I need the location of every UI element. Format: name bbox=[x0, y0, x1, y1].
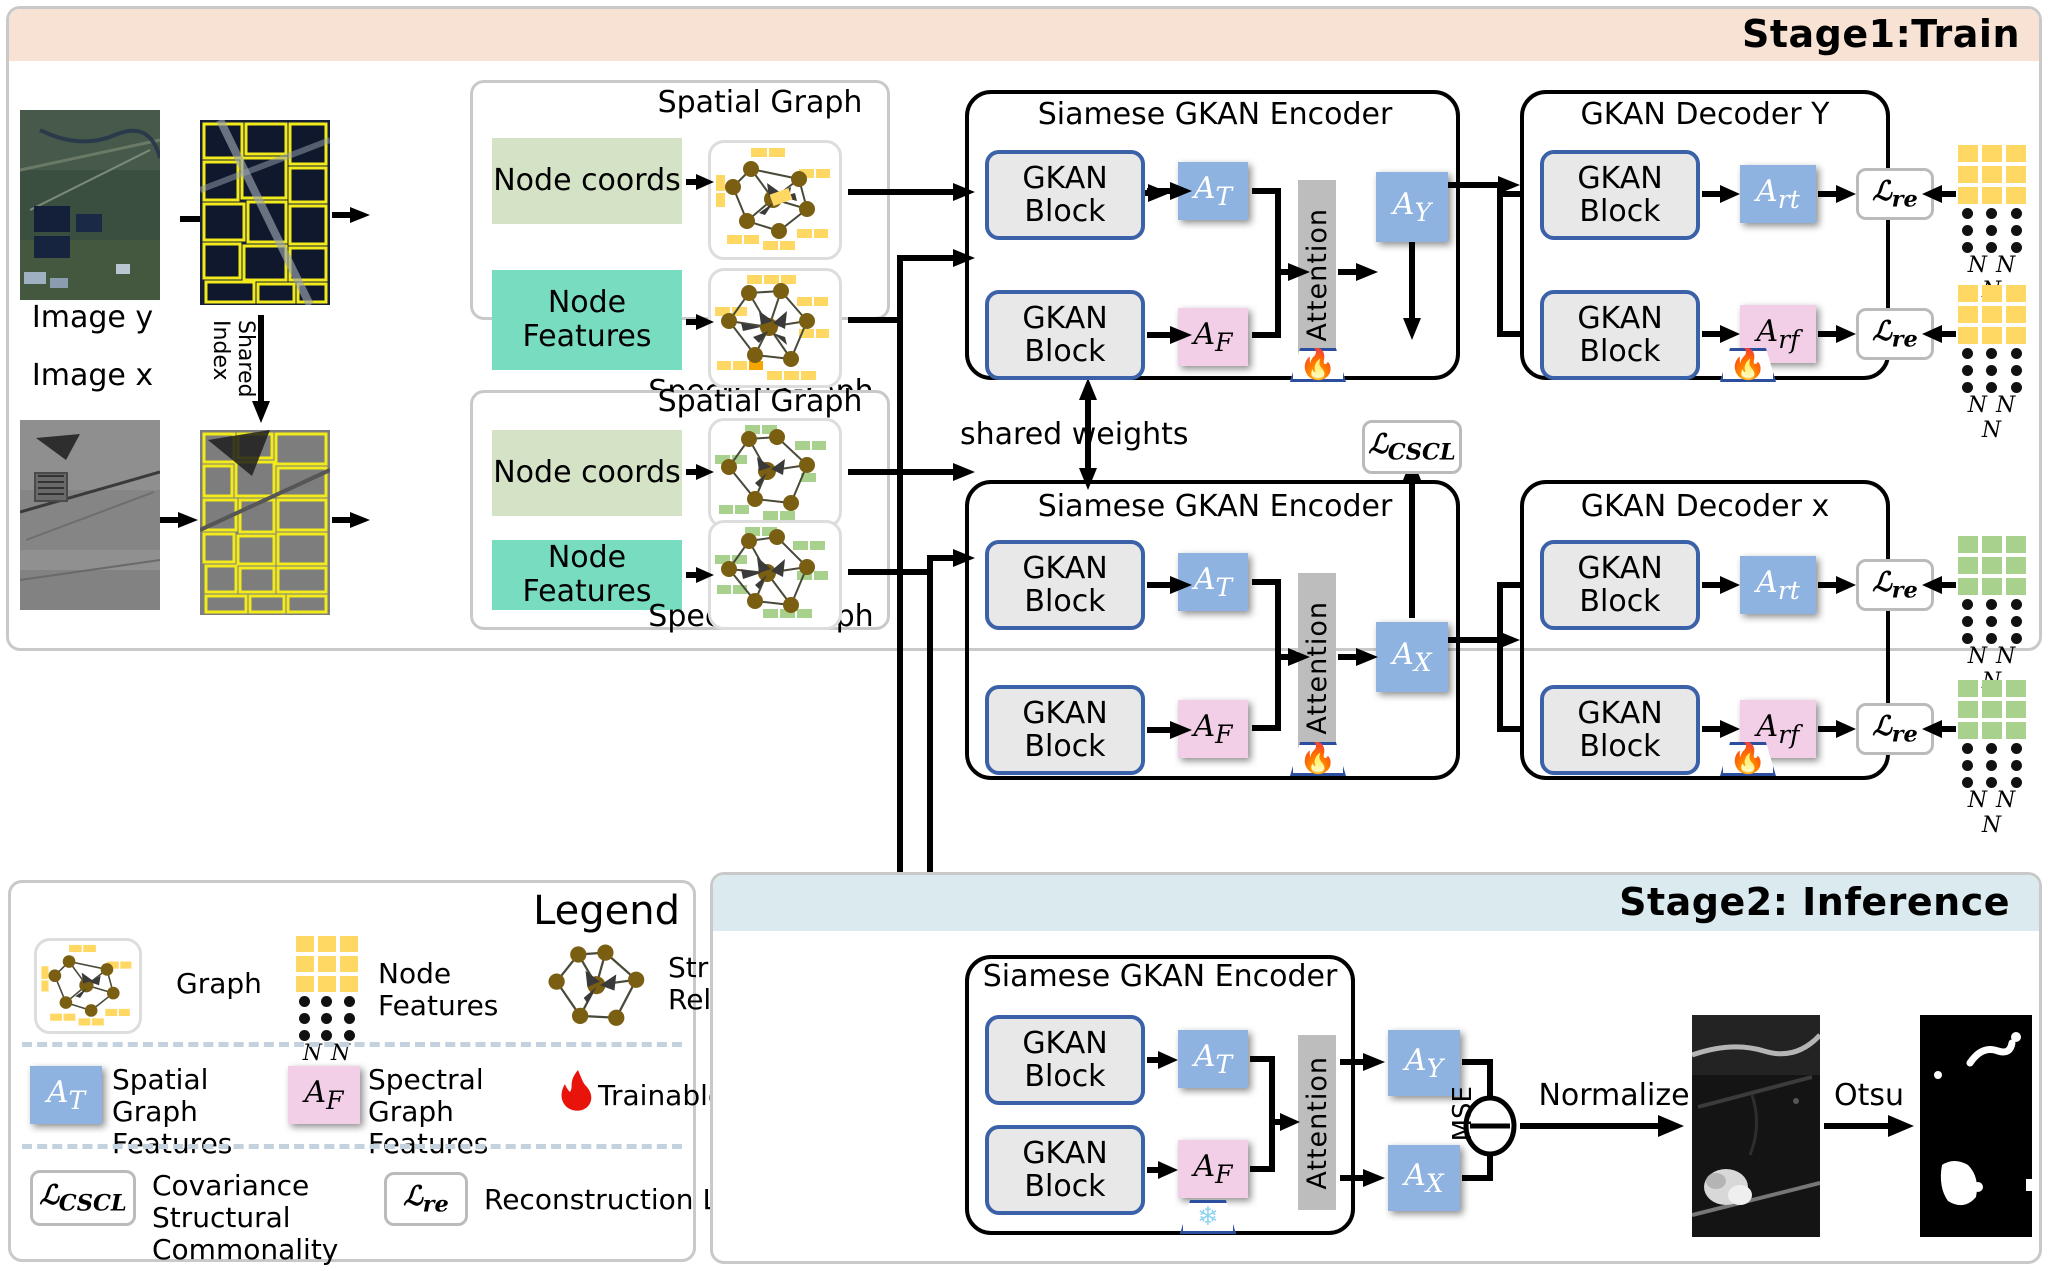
decoder-x-loss-1: ℒre bbox=[1856, 559, 1934, 611]
decoder-x-gkan-block-2-label: GKAN Block bbox=[1544, 697, 1696, 763]
flame-icon: 🔥 bbox=[1729, 350, 1766, 380]
legend-separator-1 bbox=[22, 1042, 682, 1047]
encoder-y-internal-wires bbox=[960, 80, 1480, 390]
node-coords-box-x: Node coords bbox=[492, 430, 682, 516]
decoder-y-art-tag: Art bbox=[1740, 165, 1816, 223]
otsu-binary-map-image bbox=[1920, 1015, 2032, 1237]
decoder-x-loss-2: ℒre bbox=[1856, 703, 1934, 755]
node-feature-grid-cells bbox=[1958, 680, 2026, 739]
mse-label-text: MSE bbox=[1448, 1086, 1478, 1141]
legend-title: Legend bbox=[440, 888, 680, 934]
spatial-graph-label-y: Spatial Graph bbox=[640, 86, 880, 120]
inference-af-tag: AF bbox=[1178, 1140, 1248, 1198]
flame-icon: 🔥 bbox=[1299, 744, 1336, 774]
image-x-caption: Image x bbox=[10, 358, 175, 393]
inference-attention-label: Attention bbox=[1302, 1056, 1333, 1190]
gkan-decoder-y-title: GKAN Decoder Y bbox=[1540, 98, 1870, 132]
inference-at-tag: AT bbox=[1178, 1030, 1248, 1088]
decoder-y-loss-2-label: ℒre bbox=[1872, 316, 1918, 352]
node-feature-grid-y-1: N N N bbox=[1958, 145, 2026, 303]
inference-gkan-block-2-label: GKAN Block bbox=[989, 1137, 1141, 1203]
decoder-y-loss-1-label: ℒre bbox=[1872, 176, 1918, 212]
gkan-decoder-x-title: GKAN Decoder x bbox=[1540, 490, 1870, 524]
inference-gkan-block-1: GKAN Block bbox=[985, 1015, 1145, 1105]
shared-weights-label: shared weights bbox=[960, 418, 1230, 452]
node-feature-grid-dots bbox=[1958, 743, 2026, 788]
snowflake-icon: ❄ bbox=[1197, 1204, 1219, 1230]
node-coords-y-arrow bbox=[686, 172, 716, 192]
legend-structural-icon bbox=[540, 940, 660, 1034]
node-feature-grid-dots bbox=[1958, 599, 2026, 644]
legend-at-tag: AT bbox=[30, 1066, 102, 1124]
normalize-label: Normalize bbox=[1524, 1078, 1704, 1113]
decoder-y-gkan-block-1-label: GKAN Block bbox=[1544, 162, 1696, 228]
spectral-graph-card-y bbox=[708, 268, 842, 388]
decoder-y-loss-1: ℒre bbox=[1856, 168, 1934, 220]
inference-encoder-title: Siamese GKAN Encoder bbox=[970, 960, 1350, 994]
node-features-box-y: Node Features bbox=[492, 270, 682, 370]
diagram-root: Stage1:Train Image y bbox=[0, 0, 2048, 1271]
encoder-x-internal-wires bbox=[960, 470, 1480, 790]
inference-af-label: AF bbox=[1193, 1149, 1232, 1189]
node-coords-box-y: Node coords bbox=[492, 138, 682, 224]
legend-cscl-tag: ℒCSCL bbox=[30, 1170, 136, 1226]
difference-map-image bbox=[1692, 1015, 1820, 1237]
node-feature-grid-dots bbox=[1958, 208, 2026, 253]
superpixel-x-to-panel-arrow bbox=[332, 510, 372, 530]
node-feature-grid-x-2-caption: N N N bbox=[1958, 788, 2026, 838]
node-coords-x-arrow bbox=[686, 462, 716, 482]
decoder-y-gkan-block-2-label: GKAN Block bbox=[1544, 302, 1696, 368]
legend-graph-icon bbox=[34, 938, 142, 1034]
node-feature-grid-cells bbox=[1958, 285, 2026, 344]
node-features-x-arrow bbox=[686, 565, 716, 585]
node-feature-grid-dots bbox=[296, 996, 358, 1041]
cscl-loss-label: ℒCSCL bbox=[1368, 429, 1455, 465]
spatial-graph-card-x bbox=[708, 418, 842, 528]
node-feature-grid-cells bbox=[1958, 536, 2026, 595]
image-y-thumbnail bbox=[20, 110, 160, 300]
inference-at-label: AT bbox=[1194, 1039, 1232, 1079]
decoder-x-loss-2-label: ℒre bbox=[1872, 711, 1918, 747]
inference-gkan-block-1-label: GKAN Block bbox=[989, 1027, 1141, 1093]
node-feature-grid-y-2: N N N bbox=[1958, 285, 2026, 443]
node-feature-grid-dots bbox=[1958, 348, 2026, 393]
legend-cscl-label: ℒCSCL bbox=[39, 1180, 126, 1216]
spectral-graph-card-x bbox=[708, 520, 842, 630]
superpixel-y-to-panel-arrow bbox=[332, 205, 372, 225]
legend-graph-label: Graph bbox=[176, 968, 316, 1000]
decoder-x-art-label: Art bbox=[1756, 565, 1800, 605]
image-y-caption: Image y bbox=[10, 300, 175, 335]
decoder-y-art-label: Art bbox=[1756, 174, 1800, 214]
inference-gkan-block-2: GKAN Block bbox=[985, 1125, 1145, 1215]
node-features-y-arrow bbox=[686, 312, 716, 332]
decoder-y-loss-2: ℒre bbox=[1856, 308, 1934, 360]
decoder-x-gkan-block-1: GKAN Block bbox=[1540, 540, 1700, 630]
inference-ax-label: AX bbox=[1404, 1158, 1443, 1198]
legend-node-feature-label: Node Features bbox=[378, 958, 528, 1022]
stage1-title: Stage1:Train bbox=[1700, 12, 2020, 56]
decoder-x-art-tag: Art bbox=[1740, 556, 1816, 614]
legend-af-label: AF bbox=[304, 1075, 343, 1115]
stage2-title: Stage2: Inference bbox=[1540, 880, 2010, 924]
node-feature-grid-cells bbox=[1958, 145, 2026, 204]
legend-re-label: ℒre bbox=[403, 1181, 449, 1217]
decoder-x-gkan-block-2: GKAN Block bbox=[1540, 685, 1700, 775]
spatial-graph-card-y bbox=[708, 140, 842, 260]
image-x-to-superpixel-arrow bbox=[160, 510, 200, 530]
superpixel-x-thumbnail bbox=[200, 430, 330, 615]
legend-cscl-desc: Covariance Structural Commonality Loss bbox=[152, 1170, 372, 1271]
inference-ay-label: AY bbox=[1405, 1043, 1443, 1083]
node-feature-grid-x-1: N N N bbox=[1958, 536, 2026, 694]
legend-af-tag: AF bbox=[288, 1066, 360, 1124]
flame-icon: 🔥 bbox=[1299, 350, 1336, 380]
legend-separator-2 bbox=[22, 1144, 682, 1149]
cscl-loss-box: ℒCSCL bbox=[1362, 420, 1462, 474]
node-feature-grid-y-2-caption: N N N bbox=[1958, 393, 2026, 443]
image-x-thumbnail bbox=[20, 420, 160, 610]
node-feature-grid-x-2: N N N bbox=[1958, 680, 2026, 838]
mse-label: MSE bbox=[1448, 1086, 1478, 1148]
otsu-label: Otsu bbox=[1824, 1078, 1914, 1113]
decoder-x-loss-1-label: ℒre bbox=[1872, 567, 1918, 603]
spatial-graph-label-x: Spatial Graph bbox=[640, 385, 880, 419]
decoder-y-gkan-block-1: GKAN Block bbox=[1540, 150, 1700, 240]
legend-at-label: AT bbox=[47, 1075, 85, 1115]
legend-flame-icon bbox=[556, 1068, 596, 1114]
flame-icon: 🔥 bbox=[1729, 744, 1766, 774]
inference-attention: Attention bbox=[1298, 1035, 1336, 1210]
node-feature-grid-cells bbox=[296, 936, 358, 992]
decoder-y-gkan-block-2: GKAN Block bbox=[1540, 290, 1700, 380]
decoder-x-gkan-block-1-label: GKAN Block bbox=[1544, 552, 1696, 618]
legend-re-tag: ℒre bbox=[384, 1172, 468, 1226]
superpixel-y-thumbnail bbox=[200, 120, 330, 305]
inference-ax-tag: AX bbox=[1388, 1145, 1460, 1211]
